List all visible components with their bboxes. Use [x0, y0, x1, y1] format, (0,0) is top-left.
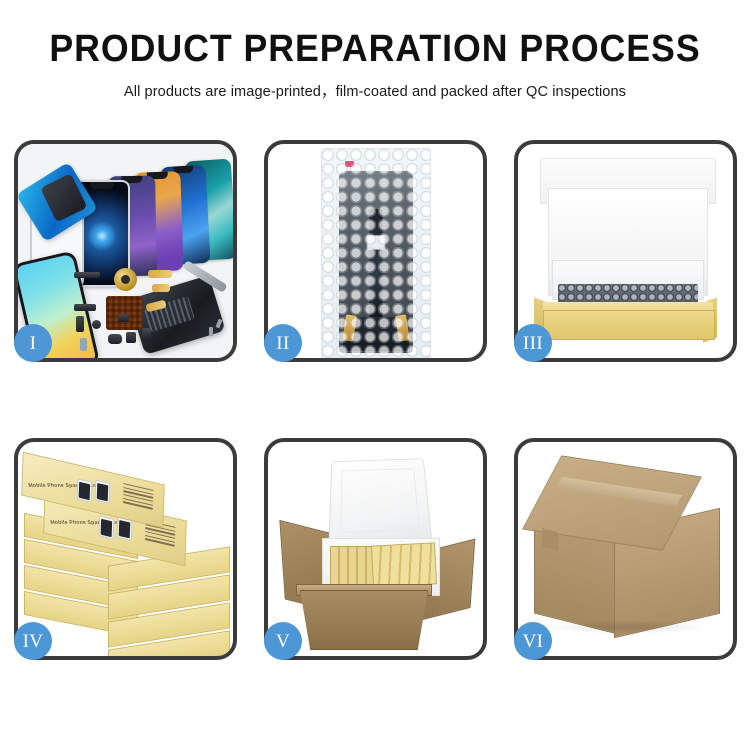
carton-tab-upper — [542, 528, 558, 551]
step-badge-6: VI — [514, 622, 552, 660]
process-step-panel-5[interactable]: V — [264, 438, 487, 660]
small-part-3 — [92, 320, 101, 329]
carton-drop-shadow — [546, 620, 708, 634]
process-step-panel-3[interactable]: III — [514, 140, 737, 362]
small-part-8 — [118, 314, 129, 322]
process-step-panel-6[interactable]: VI — [514, 438, 737, 660]
flex-cable-part-2 — [152, 284, 170, 292]
box-phone-thumb-1a — [77, 478, 93, 502]
step-1-image — [18, 144, 233, 358]
step-badge-3: III — [514, 324, 552, 362]
carton-front-wall — [300, 590, 428, 650]
kraft-box-stack: Mobile Phone Spare Parts Mobile Phone Sp… — [22, 460, 233, 656]
flex-cable-part-1 — [148, 270, 172, 278]
small-part-7 — [80, 338, 87, 351]
page-subtitle: All products are image-printed，film-coat… — [11, 80, 739, 101]
page-header: PRODUCT PREPARATION PROCESS All products… — [0, 0, 750, 101]
process-step-panel-1[interactable]: I — [14, 140, 237, 362]
step-3-image — [518, 144, 733, 358]
step-4-image: Mobile Phone Spare Parts Mobile Phone Sp… — [18, 442, 233, 656]
process-step-grid: I II — [14, 140, 736, 660]
page-title: PRODUCT PREPARATION PROCESS — [23, 30, 728, 70]
step-2-image — [268, 144, 483, 358]
speaker-bar-part — [74, 272, 100, 278]
wrapped-flex-cable — [369, 209, 382, 321]
gold-coil-part — [114, 268, 137, 291]
carton-tab-lower — [542, 590, 557, 611]
process-step-panel-4[interactable]: Mobile Phone Spare Parts Mobile Phone Sp… — [14, 438, 237, 660]
process-step-panel-2[interactable]: II — [264, 140, 487, 362]
box-phone-thumb-2a — [99, 515, 115, 539]
small-part-2 — [76, 316, 84, 332]
foam-lid — [328, 458, 432, 547]
bubble-wrap-bag — [321, 148, 431, 358]
box-phone-thumb-1b — [95, 480, 111, 504]
step-badge-2: II — [264, 324, 302, 362]
kraft-boxes-in-foam-right — [371, 542, 437, 587]
small-part-1 — [74, 304, 96, 311]
small-part-4 — [108, 334, 122, 344]
screw-part-1 — [209, 327, 213, 336]
pink-label-sticker — [345, 161, 354, 167]
small-part-5 — [126, 332, 136, 343]
step-badge-4: IV — [14, 622, 52, 660]
step-badge-1: I — [14, 324, 52, 362]
inner-box-front-wall — [543, 310, 715, 340]
wrapped-connector — [366, 235, 385, 250]
step-badge-5: V — [264, 622, 302, 660]
step-6-image — [518, 442, 733, 656]
small-part-6 — [142, 328, 151, 341]
chip-grid-part — [106, 296, 142, 330]
step-5-image — [268, 442, 483, 656]
